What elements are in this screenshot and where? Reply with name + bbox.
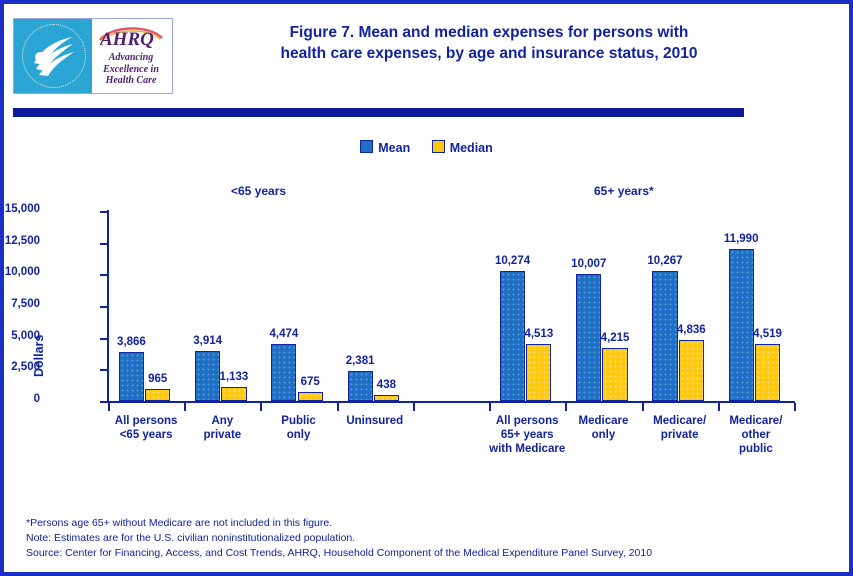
footnote-source: Source: Center for Financing, Access, an… (26, 546, 826, 561)
figure-title-line1: Figure 7. Mean and median expenses for p… (179, 22, 799, 43)
x-axis-tick (489, 403, 491, 411)
x-axis-category-label: Uninsured (320, 414, 430, 428)
figure-title: Figure 7. Mean and median expenses for p… (179, 22, 799, 64)
bar-value-label: 4,474 (260, 328, 308, 340)
x-axis-tick (108, 403, 110, 411)
legend-swatch-median (432, 140, 445, 153)
bar-value-label: 4,513 (515, 328, 563, 340)
header-divider-rule (13, 108, 744, 117)
y-axis-tick-label: 10,000 (0, 266, 40, 278)
bar-value-label: 10,007 (565, 258, 613, 270)
bar-value-label: 4,519 (744, 328, 792, 340)
bar-mean (729, 249, 754, 401)
x-axis-tick (337, 403, 339, 411)
ahrq-wordmark-panel: AHRQ Advancing Excellence in Health Care (92, 19, 172, 93)
y-axis-tick-label: 12,500 (0, 235, 40, 247)
group-headers: <65 years65+ years* (4, 184, 849, 200)
plot-area: 02,5005,0007,50010,00012,50015,0003,8669… (108, 211, 794, 401)
legend-swatch-mean (360, 140, 373, 153)
bar-median (221, 387, 246, 401)
ahrq-tagline-line2: Excellence in (92, 64, 170, 76)
x-axis-tick (260, 403, 262, 411)
hhs-seal-icon (14, 19, 92, 93)
bar-value-label: 10,267 (641, 255, 689, 267)
legend-item-median: Median (432, 140, 493, 155)
y-axis-tick (100, 306, 107, 308)
legend-label-mean: Mean (378, 141, 410, 155)
bar-median (679, 340, 704, 401)
bar-value-label: 3,914 (184, 335, 232, 347)
footnote-asterisk: *Persons age 65+ without Medicare are no… (26, 516, 826, 531)
bar-value-label: 1,133 (210, 371, 258, 383)
group-header: 65+ years* (594, 184, 654, 198)
bar-mean (271, 344, 296, 401)
x-axis-tick (413, 403, 415, 411)
x-axis-tick (642, 403, 644, 411)
bar-median (145, 389, 170, 401)
legend-item-mean: Mean (360, 140, 410, 155)
svg-text:AHRQ: AHRQ (100, 29, 154, 49)
bar-value-label: 4,215 (591, 332, 639, 344)
bar-median (526, 344, 551, 401)
figure-footnotes: *Persons age 65+ without Medicare are no… (26, 516, 826, 561)
ahrq-logo-text-icon: AHRQ (100, 27, 172, 49)
x-axis-tick (794, 403, 796, 411)
bar-median (602, 348, 627, 401)
bar-value-label: 4,836 (667, 324, 715, 336)
bar-chart: Mean Median <65 years65+ years* Dollars … (4, 122, 849, 502)
bar-value-label: 2,381 (336, 355, 384, 367)
footnote-note: Note: Estimates are for the U.S. civilia… (26, 531, 826, 546)
group-header: <65 years (231, 184, 286, 198)
x-axis-tick (565, 403, 567, 411)
x-axis-line (107, 401, 795, 403)
y-axis-tick-label: 15,000 (0, 203, 40, 215)
y-axis-tick (100, 401, 107, 403)
legend-label-median: Median (450, 141, 493, 155)
y-axis-tick (100, 369, 107, 371)
bar-value-label: 965 (134, 373, 182, 385)
x-axis-tick (184, 403, 186, 411)
bar-value-label: 10,274 (489, 255, 537, 267)
bar-median (298, 392, 323, 401)
y-axis-tick-label: 2,500 (0, 361, 40, 373)
bar-median (755, 344, 780, 401)
figure-page: AHRQ Advancing Excellence in Health Care… (0, 0, 853, 576)
y-axis-tick-label: 7,500 (0, 298, 40, 310)
ahrq-tagline: Advancing Excellence in Health Care (92, 52, 170, 87)
y-axis-tick (100, 338, 107, 340)
y-axis-tick (100, 243, 107, 245)
bar-median (374, 395, 399, 401)
x-axis-category-label: Medicare/ other public (701, 414, 811, 456)
ahrq-tagline-line1: Advancing (92, 52, 170, 64)
bar-value-label: 675 (286, 376, 334, 388)
bar-mean (652, 271, 677, 401)
bar-value-label: 438 (363, 379, 411, 391)
hhs-seal-bird-icon (28, 33, 78, 79)
ahrq-hhs-logo: AHRQ Advancing Excellence in Health Care (13, 18, 173, 94)
y-axis-tick-label: 5,000 (0, 330, 40, 342)
y-axis-tick (100, 274, 107, 276)
bar-value-label: 3,866 (108, 336, 156, 348)
y-axis-tick (100, 211, 107, 213)
chart-legend: Mean Median (4, 140, 849, 155)
y-axis-tick-label: 0 (0, 393, 40, 405)
x-axis-tick (718, 403, 720, 411)
bar-value-label: 11,990 (717, 233, 765, 245)
figure-title-line2: health care expenses, by age and insuran… (179, 43, 799, 64)
ahrq-tagline-line3: Health Care (92, 75, 170, 87)
figure-header: AHRQ Advancing Excellence in Health Care… (4, 4, 849, 105)
